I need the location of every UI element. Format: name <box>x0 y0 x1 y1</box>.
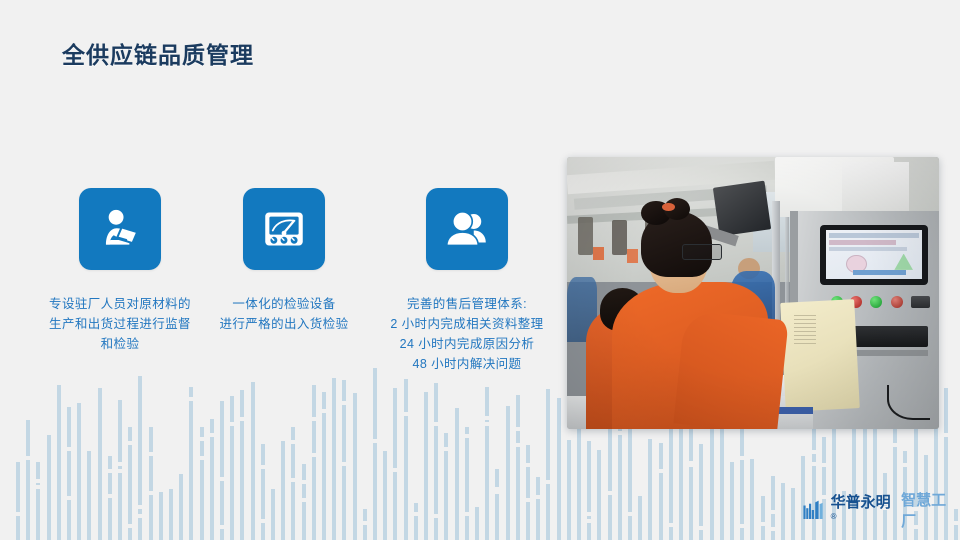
decorative-bar <box>47 435 51 540</box>
decorative-bar <box>291 427 295 540</box>
feature-caption: 完善的售后管理体系: 2 小时内完成相关资料整理 24 小时内完成原因分析 48… <box>358 294 576 374</box>
decorative-bar <box>98 388 102 540</box>
building-bars-logo-icon <box>803 500 825 520</box>
decorative-bar <box>526 445 530 540</box>
decorative-bar <box>77 403 81 540</box>
decorative-bar <box>495 469 499 540</box>
decorative-bar <box>393 388 397 540</box>
decorative-bar <box>587 441 591 540</box>
decorative-bar <box>189 387 193 540</box>
decorative-bar <box>312 385 316 540</box>
decorative-bar <box>516 395 520 540</box>
two-people-icon <box>426 188 508 270</box>
decorative-bar <box>455 408 459 540</box>
registered-mark: ® <box>831 512 837 521</box>
decorative-bar <box>36 462 40 540</box>
decorative-bar <box>57 385 61 540</box>
decorative-bar <box>220 401 224 540</box>
decorative-bar <box>169 489 173 540</box>
decorative-bar <box>383 451 387 540</box>
decorative-bar <box>659 443 663 540</box>
inspector-person-clipboard-icon <box>79 188 161 270</box>
decorative-bar <box>128 427 132 540</box>
feature-item-aftersales: 完善的售后管理体系: 2 小时内完成相关资料整理 24 小时内完成原因分析 48… <box>358 188 576 374</box>
decorative-bar <box>16 462 20 540</box>
decorative-bar <box>404 379 408 540</box>
decorative-bar <box>363 509 367 540</box>
decorative-bar <box>506 406 510 540</box>
factory-inspection-photo <box>567 157 939 429</box>
decorative-bar <box>546 389 550 540</box>
decorative-bar <box>485 387 489 540</box>
decorative-bar <box>261 444 265 540</box>
decorative-bar <box>149 427 153 540</box>
decorative-bar <box>322 392 326 540</box>
decorative-bar <box>444 433 448 540</box>
decorative-bar <box>791 488 795 540</box>
decorative-bar <box>567 440 571 540</box>
decorative-bar <box>638 496 642 540</box>
gauge-meter-icon <box>243 188 325 270</box>
decorative-bar <box>87 451 91 540</box>
decorative-bar <box>750 459 754 540</box>
page-title: 全供应链品质管理 <box>62 36 254 70</box>
decorative-bar <box>281 441 285 540</box>
logo-sub-name: 智慧工厂 <box>901 489 960 531</box>
decorative-bar <box>761 496 765 540</box>
decorative-bar <box>730 462 734 540</box>
decorative-bar <box>108 456 112 540</box>
decorative-bar <box>373 368 377 540</box>
decorative-bar <box>699 444 703 540</box>
decorative-bar <box>271 489 275 540</box>
decorative-bar <box>577 412 581 540</box>
decorative-bar <box>465 427 469 540</box>
decorative-bar <box>210 419 214 540</box>
decorative-bar <box>536 477 540 540</box>
decorative-bar <box>771 476 775 540</box>
feature-item-equipment: 一体化的检验设备 进行严格的出入货检验 <box>180 188 388 334</box>
decorative-bar <box>342 380 346 540</box>
brand-logo: 华普永明® 智慧工厂 <box>803 489 960 531</box>
decorative-bar <box>648 439 652 540</box>
decorative-bar <box>230 396 234 540</box>
decorative-bar <box>332 378 336 540</box>
decorative-bar <box>618 416 622 540</box>
decorative-bar <box>138 376 142 540</box>
decorative-bar <box>26 420 30 540</box>
decorative-bar <box>434 383 438 540</box>
feature-caption: 一体化的检验设备 进行严格的出入货检验 <box>180 294 388 334</box>
decorative-bar <box>353 393 357 540</box>
decorative-bar <box>689 427 693 540</box>
decorative-bar <box>251 382 255 540</box>
decorative-bar <box>159 492 163 540</box>
decorative-bar <box>240 390 244 540</box>
decorative-bar <box>424 392 428 540</box>
decorative-bar <box>608 421 612 540</box>
decorative-bar <box>118 400 122 540</box>
decorative-bar <box>200 427 204 540</box>
slide-root: 全供应链品质管理 专设驻厂人员对原材料的 生产和出货过程进行监督 和检验 <box>0 0 960 540</box>
decorative-bar <box>475 507 479 540</box>
decorative-bar <box>781 483 785 540</box>
decorative-bar <box>67 407 71 540</box>
decorative-bar <box>557 398 561 540</box>
logo-brand-name: 华普永明® <box>831 491 896 529</box>
decorative-bar <box>179 474 183 540</box>
decorative-bar <box>414 503 418 540</box>
decorative-bar <box>302 464 306 540</box>
decorative-bar <box>597 450 601 540</box>
decorative-bar <box>720 413 724 540</box>
